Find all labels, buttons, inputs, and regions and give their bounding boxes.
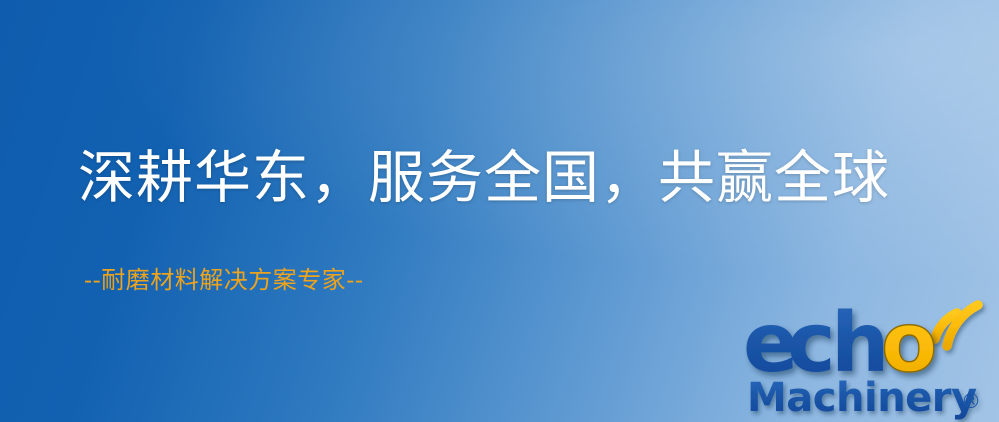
signal-arcs-icon (935, 305, 978, 346)
logo-tagline: Machinery (747, 375, 977, 421)
company-logo[interactable]: e c h o Machinery ® (739, 292, 997, 422)
logo-graphic: e c h o Machinery ® (739, 292, 997, 422)
logo-tagline-group: Machinery ® (747, 375, 981, 421)
page-subtitle: --耐磨材料解决方案专家-- (84, 268, 363, 292)
registered-trademark-icon: ® (961, 389, 981, 413)
hero-banner: 深耕华东，服务全国，共赢全球 --耐磨材料解决方案专家-- (0, 0, 999, 422)
page-title: 深耕华东，服务全国，共赢全球 (78, 150, 890, 207)
